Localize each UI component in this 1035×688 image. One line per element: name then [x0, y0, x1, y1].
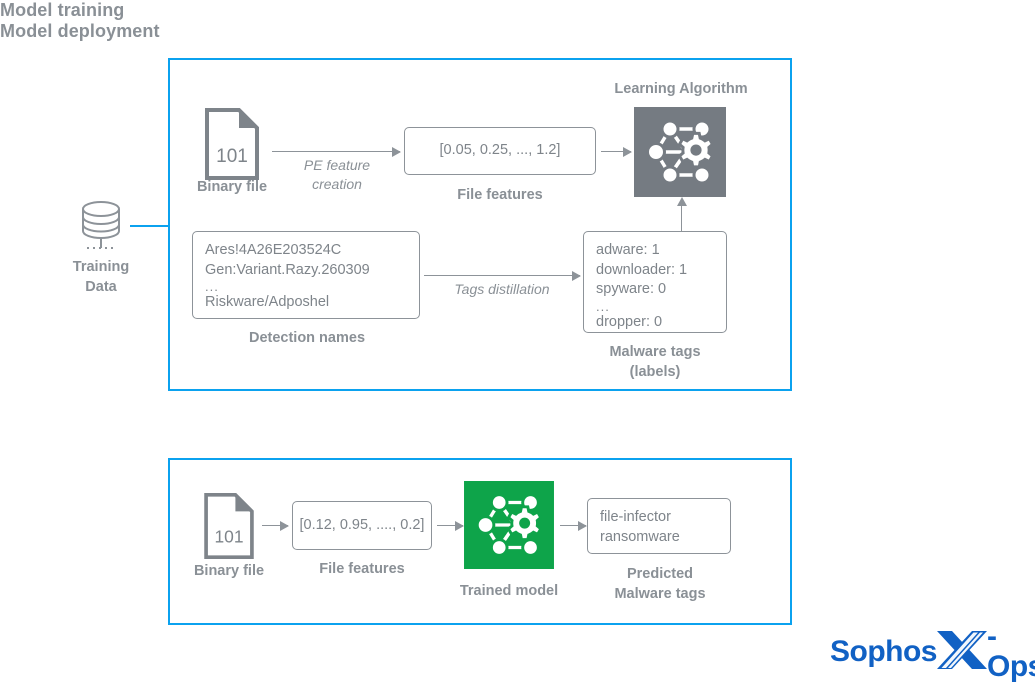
- sophos-x-mark-icon: [933, 628, 991, 677]
- svg-text:101: 101: [214, 527, 243, 547]
- file-features-box-deployment: [0.12, 0.95, ...., 0.2]: [292, 501, 432, 550]
- document-101-icon: 101: [205, 108, 259, 180]
- tags-distillation-label: Tags distillation: [424, 280, 580, 299]
- detection-name-line: Riskware/Adposhel: [205, 293, 370, 313]
- malware-tag-line: dropper: 0: [596, 313, 687, 333]
- neural-network-gear-icon: [464, 481, 554, 574]
- detection-name-line: Ares!4A26E203524C: [205, 241, 370, 261]
- malware-tags-box: adware: 1 downloader: 1 spyware: 0 ... d…: [583, 231, 727, 333]
- file-features-caption-deployment: File features: [302, 560, 422, 580]
- training-data-connector: [130, 225, 170, 227]
- section-heading-deployment: Model deployment: [0, 21, 1035, 42]
- svg-text:101: 101: [216, 146, 248, 167]
- detection-name-line: Gen:Variant.Razy.260309: [205, 261, 370, 281]
- file-features-box-training: [0.05, 0.25, ..., 1.2]: [404, 127, 596, 175]
- predicted-tags-box: file-infector ransomware: [587, 498, 731, 554]
- arrow-tags-distillation: [424, 275, 580, 276]
- arrow-labels-to-learning-algorithm: [681, 206, 682, 232]
- trained-model-caption: Trained model: [439, 582, 579, 602]
- pe-feature-creation-label: PE feature creation: [280, 156, 394, 194]
- arrow-binary-to-features-deployment: [262, 525, 288, 526]
- arrow-pe-feature-creation: [272, 151, 400, 152]
- neural-network-gear-icon: [634, 107, 726, 202]
- file-features-value-training: [0.05, 0.25, ..., 1.2]: [440, 141, 561, 161]
- logo-text-left: Sophos: [830, 637, 937, 667]
- binary-file-caption-training: Binary file: [177, 178, 287, 198]
- database-icon: [73, 196, 129, 258]
- learning-algorithm-caption: Learning Algorithm: [591, 80, 771, 100]
- malware-tag-line: adware: 1: [596, 241, 687, 261]
- malware-tag-ellipsis: ...: [596, 300, 687, 313]
- section-heading-training: Model training: [0, 0, 1035, 21]
- predicted-tags-caption: Predicted Malware tags: [584, 565, 736, 604]
- detection-name-ellipsis: ...: [205, 280, 370, 293]
- detection-names-box: Ares!4A26E203524C Gen:Variant.Razy.26030…: [192, 231, 420, 319]
- predicted-tag-line: file-infector: [600, 508, 680, 528]
- logo-text-right: -Ops: [987, 622, 1035, 682]
- malware-tag-line: spyware: 0: [596, 280, 687, 300]
- binary-file-caption-deployment: Binary file: [174, 562, 284, 582]
- sophos-x-ops-logo: Sophos -Ops: [830, 622, 1035, 682]
- document-101-icon: 101: [204, 493, 254, 559]
- file-features-value-deployment: [0.12, 0.95, ...., 0.2]: [300, 516, 425, 536]
- detection-names-caption: Detection names: [222, 329, 392, 349]
- arrow-features-to-trained-model: [437, 525, 463, 526]
- predicted-tag-line: ransomware: [600, 528, 680, 548]
- arrow-model-to-predicted-tags: [560, 525, 586, 526]
- file-features-caption-training: File features: [440, 186, 560, 206]
- malware-tags-caption: Malware tags (labels): [570, 343, 740, 382]
- arrow-features-to-learning-algorithm: [601, 151, 631, 152]
- malware-tag-line: downloader: 1: [596, 261, 687, 281]
- training-data-caption: Training Data: [48, 258, 154, 297]
